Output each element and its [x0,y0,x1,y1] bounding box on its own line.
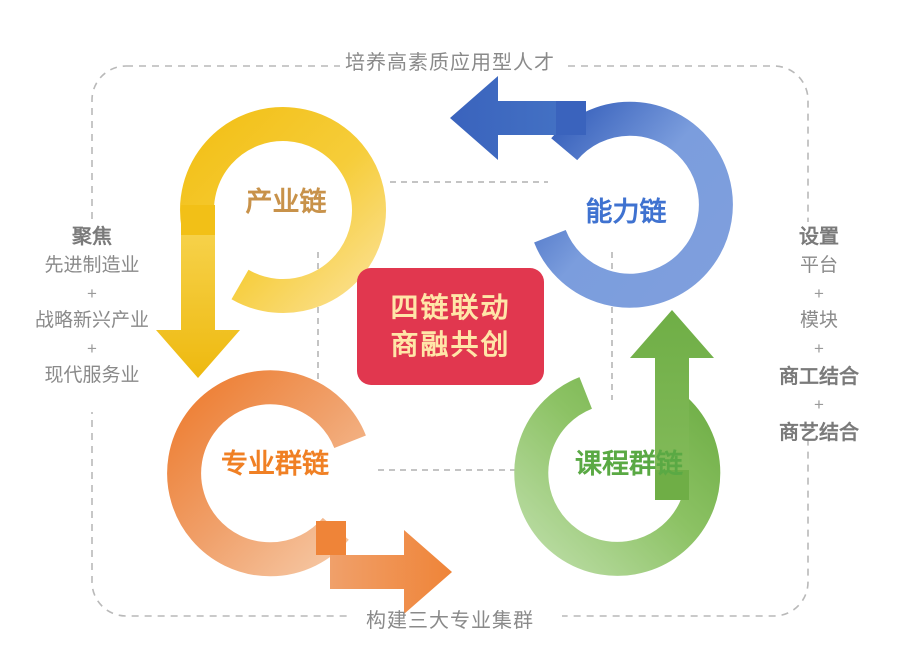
diagram-canvas: 培养高素质应用型人才 构建三大专业集群 聚焦 先进制造业 + 战略新兴产业 + … [0,0,900,651]
right-panel-item-3: 商工结合 [744,362,894,392]
ability-chain-arrow [450,76,570,160]
left-panel-heading: 聚焦 [8,222,176,252]
right-panel-plus-3: + [744,392,894,418]
center-badge[interactable]: 四链联动 商融共创 [357,268,544,385]
ring-label-major-group-chain: 专业群链 [190,442,360,481]
left-panel-item-3: 现代服务业 [8,362,176,391]
right-panel-item-4: 商艺结合 [744,418,894,448]
right-panel-item-2: 模块 [744,307,894,336]
ring-label-ability-chain: 能力链 [556,190,696,229]
right-panel-item-1: 平台 [744,252,894,281]
right-panel: 设置 平台 + 模块 + 商工结合 + 商艺结合 [744,222,894,448]
center-badge-line-2: 商融共创 [390,330,510,361]
top-caption: 培养高素质应用型人才 [0,50,900,76]
right-panel-plus-1: + [744,281,894,307]
right-panel-heading: 设置 [744,222,894,252]
left-panel-item-1: 先进制造业 [8,252,176,281]
left-panel-plus-2: + [8,336,176,362]
ring-ability-chain[interactable] [450,76,716,291]
bottom-caption: 构建三大专业集群 [0,608,900,634]
ring-industry-chain[interactable] [156,124,369,378]
left-panel-item-2: 战略新兴产业 [8,307,176,336]
ring-label-course-group-chain: 课程群链 [544,442,714,481]
left-panel: 聚焦 先进制造业 + 战略新兴产业 + 现代服务业 [8,222,176,391]
left-panel-plus-1: + [8,281,176,307]
center-badge-line-1: 四链联动 [390,293,510,324]
right-panel-plus-2: + [744,336,894,362]
major-group-chain-arrow [330,521,452,614]
ring-label-industry-chain: 产业链 [216,180,356,219]
ring-course-group-chain[interactable] [531,310,714,559]
ring-major-group-chain[interactable] [184,387,452,614]
